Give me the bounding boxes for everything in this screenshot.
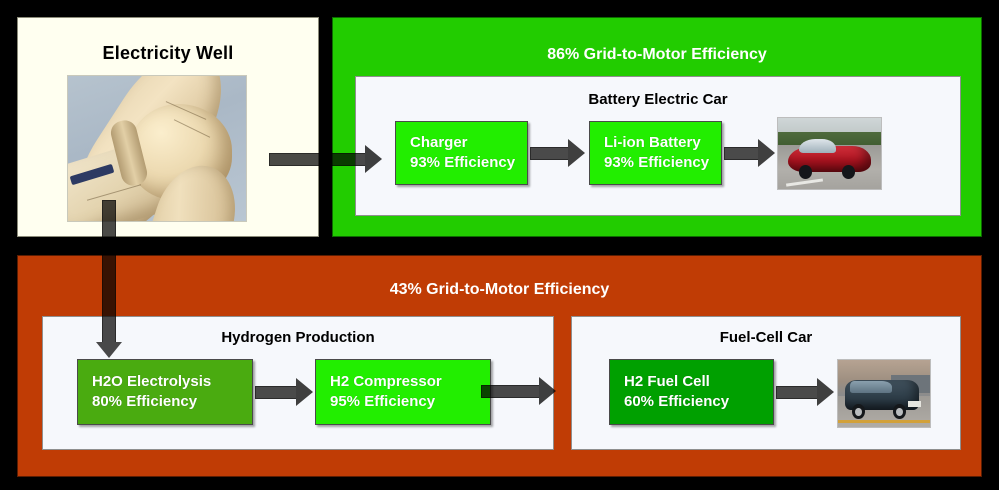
liion-battery-box-line2: 93% Efficiency bbox=[604, 153, 721, 173]
fuel-cell-car-image bbox=[837, 359, 931, 428]
fcv-efficiency-header: 43% Grid-to-Motor Efficiency bbox=[18, 281, 981, 299]
diagram-canvas: Electricity Well 86% Grid-to-Motor Effic… bbox=[0, 0, 999, 490]
arrow-fuelcell-to-car bbox=[776, 378, 838, 406]
h2-fuel-cell-line1: H2 Fuel Cell bbox=[624, 372, 773, 392]
h2-compressor-box[interactable]: H2 Compressor 95% Efficiency bbox=[315, 359, 491, 425]
h2-compressor-line1: H2 Compressor bbox=[330, 372, 490, 392]
fuel-cell-car-title: Fuel-Cell Car bbox=[572, 329, 960, 346]
fuel-cell-pathway-panel: 43% Grid-to-Motor Efficiency Hydrogen Pr… bbox=[17, 255, 982, 477]
liion-battery-box-line1: Li-ion Battery bbox=[604, 133, 721, 153]
h2o-electrolysis-box[interactable]: H2O Electrolysis 80% Efficiency bbox=[77, 359, 253, 425]
electricity-well-title: Electricity Well bbox=[18, 43, 318, 64]
electricity-well-panel: Electricity Well bbox=[17, 17, 319, 237]
h2-compressor-line2: 95% Efficiency bbox=[330, 392, 490, 412]
battery-electric-pathway-panel: 86% Grid-to-Motor Efficiency Battery Ele… bbox=[332, 17, 982, 237]
arrow-charger-to-battery bbox=[530, 139, 587, 167]
arrow-battery-to-car bbox=[724, 139, 778, 167]
h2o-electrolysis-line1: H2O Electrolysis bbox=[92, 372, 252, 392]
arrow-compressor-to-fuelcell bbox=[481, 377, 559, 405]
charger-box[interactable]: Charger 93% Efficiency bbox=[395, 121, 528, 185]
wind-turbine-image bbox=[67, 75, 247, 222]
battery-electric-car-subpanel: Battery Electric Car Charger 93% Efficie… bbox=[355, 76, 961, 216]
charger-box-line1: Charger bbox=[410, 133, 527, 153]
battery-electric-car-title: Battery Electric Car bbox=[356, 91, 960, 108]
electric-car-image bbox=[777, 117, 882, 190]
charger-box-line2: 93% Efficiency bbox=[410, 153, 527, 173]
arrow-well-to-electrolysis bbox=[96, 200, 122, 360]
arrow-well-to-charger bbox=[269, 145, 386, 173]
arrow-electrolysis-to-compressor bbox=[255, 378, 317, 406]
h2-fuel-cell-line2: 60% Efficiency bbox=[624, 392, 773, 412]
h2o-electrolysis-line2: 80% Efficiency bbox=[92, 392, 252, 412]
bev-efficiency-header: 86% Grid-to-Motor Efficiency bbox=[333, 46, 981, 64]
liion-battery-box[interactable]: Li-ion Battery 93% Efficiency bbox=[589, 121, 722, 185]
fuel-cell-car-subpanel: Fuel-Cell Car H2 Fuel Cell 60% Efficienc… bbox=[571, 316, 961, 450]
h2-fuel-cell-box[interactable]: H2 Fuel Cell 60% Efficiency bbox=[609, 359, 774, 425]
